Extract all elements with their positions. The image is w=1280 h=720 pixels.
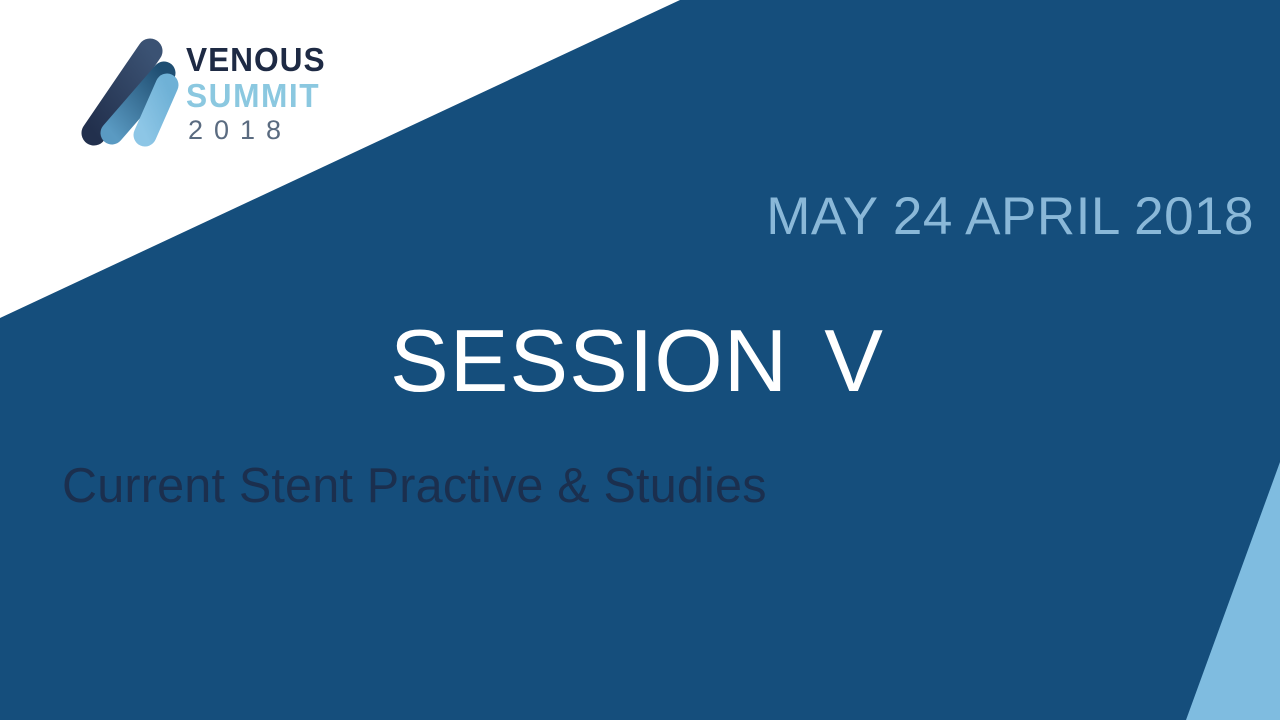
- logo-line-venous: VENOUS: [186, 43, 326, 76]
- page-subtitle: Current Stent Practive & Studies: [62, 458, 767, 514]
- presentation-slide: VENOUS SUMMIT 2018 MAY 24 APRIL 2018 SES…: [0, 0, 1280, 720]
- venous-summit-logo: VENOUS SUMMIT 2018: [72, 33, 332, 153]
- logo-wordmark: VENOUS SUMMIT 2018: [186, 43, 331, 144]
- page-title-word: SESSION: [390, 311, 788, 410]
- logo-line-summit: SUMMIT: [186, 79, 326, 112]
- event-date: MAY 24 APRIL 2018: [766, 186, 1254, 247]
- page-title: SESSIONV: [0, 310, 1277, 412]
- page-title-numeral: V: [824, 311, 884, 410]
- wave-mark-icon: [72, 37, 180, 149]
- logo-line-year: 2018: [188, 117, 331, 144]
